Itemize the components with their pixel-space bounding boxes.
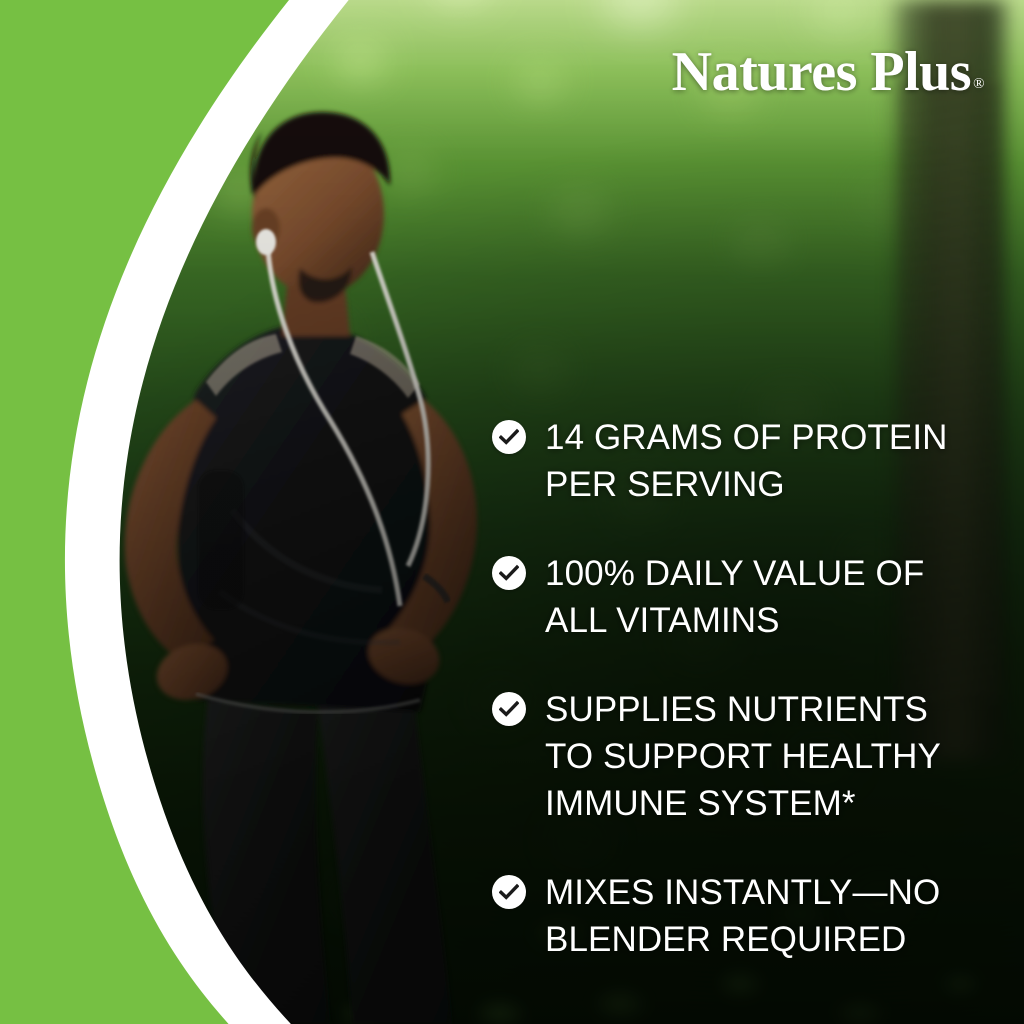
brand-logo-text: Natures Plus bbox=[672, 41, 971, 103]
benefit-text: 14 GRAMS OF PROTEIN PER SERVING bbox=[545, 414, 948, 508]
list-item: MIXES INSTANTLY—NO BLENDER REQUIRED bbox=[492, 869, 992, 963]
check-circle-icon bbox=[492, 420, 526, 454]
list-item: SUPPLIES NUTRIENTS TO SUPPORT HEALTHY IM… bbox=[492, 686, 992, 827]
check-circle-icon bbox=[492, 875, 526, 909]
registered-trademark-icon: ® bbox=[973, 76, 984, 92]
benefit-text: SUPPLIES NUTRIENTS TO SUPPORT HEALTHY IM… bbox=[545, 686, 941, 827]
benefit-text: 100% DAILY VALUE OF ALL VITAMINS bbox=[545, 550, 924, 644]
check-circle-icon bbox=[492, 692, 526, 726]
list-item: 14 GRAMS OF PROTEIN PER SERVING bbox=[492, 414, 992, 508]
benefit-text: MIXES INSTANTLY—NO BLENDER REQUIRED bbox=[545, 869, 940, 963]
list-item: 100% DAILY VALUE OF ALL VITAMINS bbox=[492, 550, 992, 644]
check-circle-icon bbox=[492, 556, 526, 590]
promo-banner: Natures Plus® 14 GRAMS OF PROTEIN PER SE… bbox=[0, 0, 1024, 1024]
benefits-list: 14 GRAMS OF PROTEIN PER SERVING 100% DAI… bbox=[492, 414, 992, 963]
brand-logo: Natures Plus® bbox=[672, 44, 982, 100]
